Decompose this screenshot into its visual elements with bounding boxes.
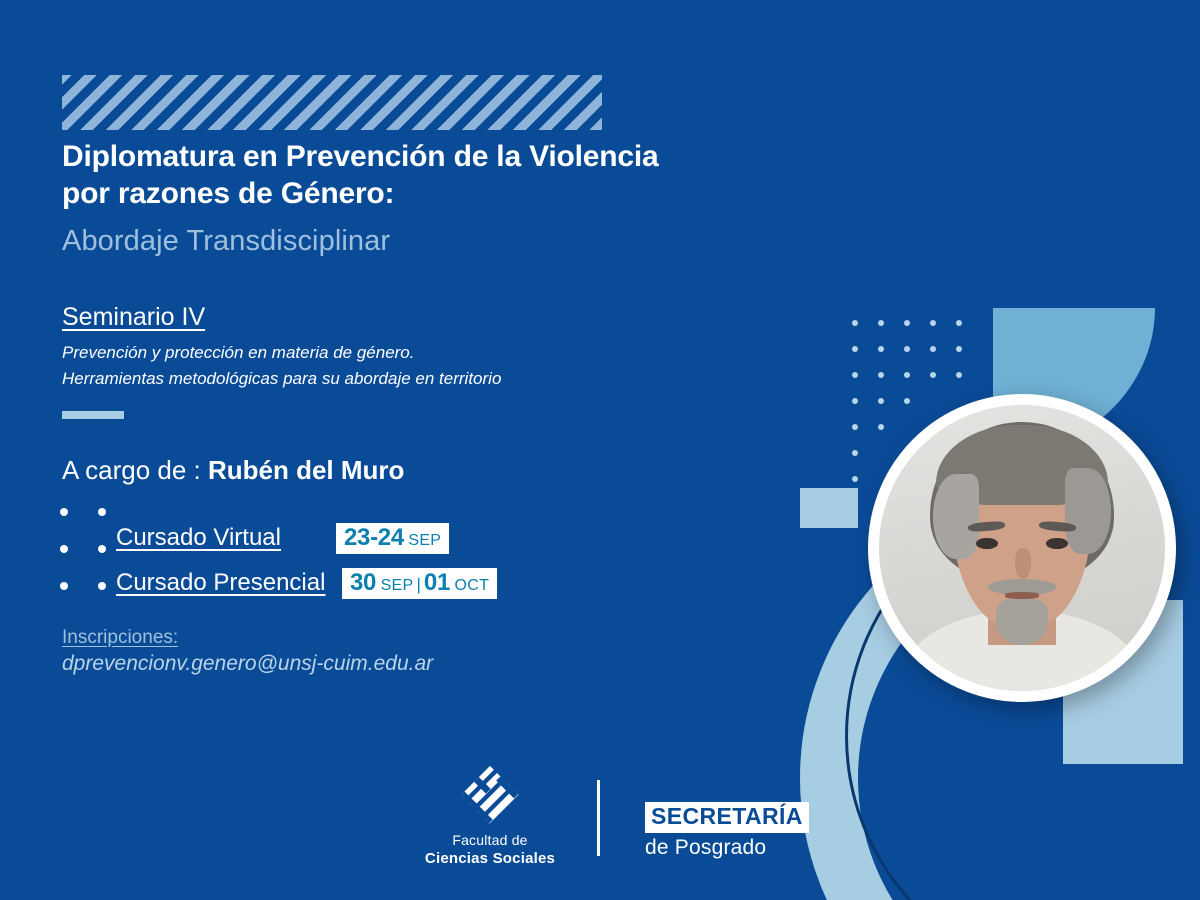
decorative-dot [852,476,858,482]
bullet-dot [98,508,106,516]
diagonal-stripes-decoration [62,75,602,130]
decorative-dot [930,320,936,326]
decorative-dot [878,346,884,352]
secretariat-logo-group: SECRETARÍA de Posgrado [645,802,809,860]
decorative-dot [904,320,910,326]
date-part-pipe: | [413,575,423,594]
decorative-dot [904,346,910,352]
decorative-dot [852,424,858,430]
decorative-dot [904,398,910,404]
decorative-block-left [800,488,858,528]
bullet-dot [60,508,68,516]
decorative-dot [852,346,858,352]
enrollment-label: Inscripciones: [62,627,178,649]
poster-canvas: Diplomatura en Prevención de la Violenci… [0,0,1200,900]
enrollment-email[interactable]: dprevencionv.genero@unsj-cuim.edu.ar [62,652,433,676]
decorative-dot [930,346,936,352]
seminar-description-line-2: Herramientas metodológicas para su abord… [62,366,702,392]
course-name: Cursado Virtual [116,524,336,552]
seminar-label: Seminario IV [62,303,205,332]
instructor-line: A cargo de : Rubén del Muro [62,455,404,486]
decorative-dot [852,398,858,404]
portrait-mouth [1005,592,1039,598]
instructor-prefix: A cargo de : [62,455,208,485]
decorative-bullet-dots [60,508,118,598]
bullet-dot [60,582,68,590]
decorative-dot [878,320,884,326]
list-item: Cursado Presencial 30 SEP|01 OCT [116,568,497,599]
divider [62,411,124,419]
decorative-dot [878,424,884,430]
facultad-ciencias-sociales-logo [459,764,521,826]
date-part-num: 01 [424,569,450,596]
decorative-dot [956,346,962,352]
footer: Facultad de Ciencias Sociales SECRETARÍA… [0,760,1200,880]
faculty-label-line-1: Facultad de [420,832,560,848]
page-subtitle: Abordaje Transdisciplinar [62,225,390,258]
date-part-mon: SEP [381,577,414,594]
bullet-dot [98,545,106,553]
decorative-dot [852,450,858,456]
seminar-description-line-1: Prevención y protección en materia de gé… [62,340,702,366]
date-part-num: 30 [350,569,376,596]
decorative-dot [878,398,884,404]
decorative-dot [904,372,910,378]
decorative-dot [852,320,858,326]
instructor-portrait-photo [879,405,1165,691]
portrait-nose [1015,548,1031,579]
avatar [868,394,1176,702]
portrait-goatee [996,599,1047,645]
decorative-dot [878,372,884,378]
bullet-dot [98,582,106,590]
instructor-name: Rubén del Muro [208,455,404,485]
decorative-dot [852,372,858,378]
date-part-num: 23-24 [344,524,404,551]
footer-divider [597,780,600,856]
status-badge: 30 SEP|01 OCT [342,568,497,599]
faculty-logo-group: Facultad de Ciencias Sociales [420,760,560,867]
portrait-hair-left [933,474,979,560]
portrait-hair-right [1065,468,1111,554]
secretariat-badge: SECRETARÍA [645,802,809,833]
bullet-dot [60,545,68,553]
list-item: Cursado Virtual 23-24 SEP [116,523,449,554]
status-badge: 23-24 SEP [336,523,449,554]
date-part-mon: OCT [454,577,489,594]
date-part-mon: SEP [408,532,441,549]
faculty-label-line-2: Ciencias Sociales [420,850,560,867]
page-title: Diplomatura en Prevención de la Violenci… [62,139,702,213]
decorative-dot [930,372,936,378]
decorative-dot [956,372,962,378]
decorative-dot [956,320,962,326]
seminar-description: Prevención y protección en materia de gé… [62,340,702,393]
secretariat-subtitle: de Posgrado [645,836,809,860]
course-name: Cursado Presencial [116,569,342,597]
